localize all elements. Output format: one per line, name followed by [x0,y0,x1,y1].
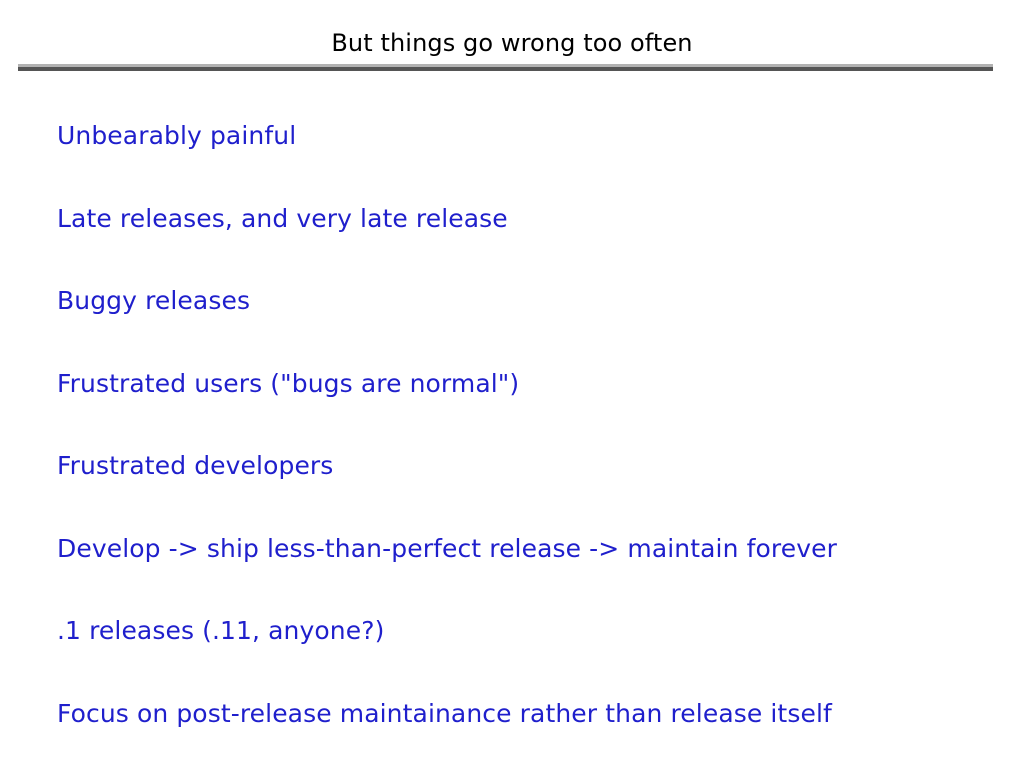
list-item: .1 releases (.11, anyone?) [57,612,1007,695]
list-item: Buggy releases [57,282,1007,365]
page-title: But things go wrong too often [0,28,1024,58]
slide-body-list: Unbearably painful Late releases, and ve… [57,117,1007,777]
list-item: Focus on post-release maintainance rathe… [57,695,1007,777]
divider-shadow-band [18,67,993,71]
title-divider [18,64,993,71]
slide-canvas: But things go wrong too often Unbearably… [0,0,1024,768]
list-item: Late releases, and very late release [57,200,1007,283]
list-item: Unbearably painful [57,117,1007,200]
list-item: Frustrated developers [57,447,1007,530]
list-item: Frustrated users ("bugs are normal") [57,365,1007,448]
list-item: Develop -> ship less-than-perfect releas… [57,530,1007,613]
